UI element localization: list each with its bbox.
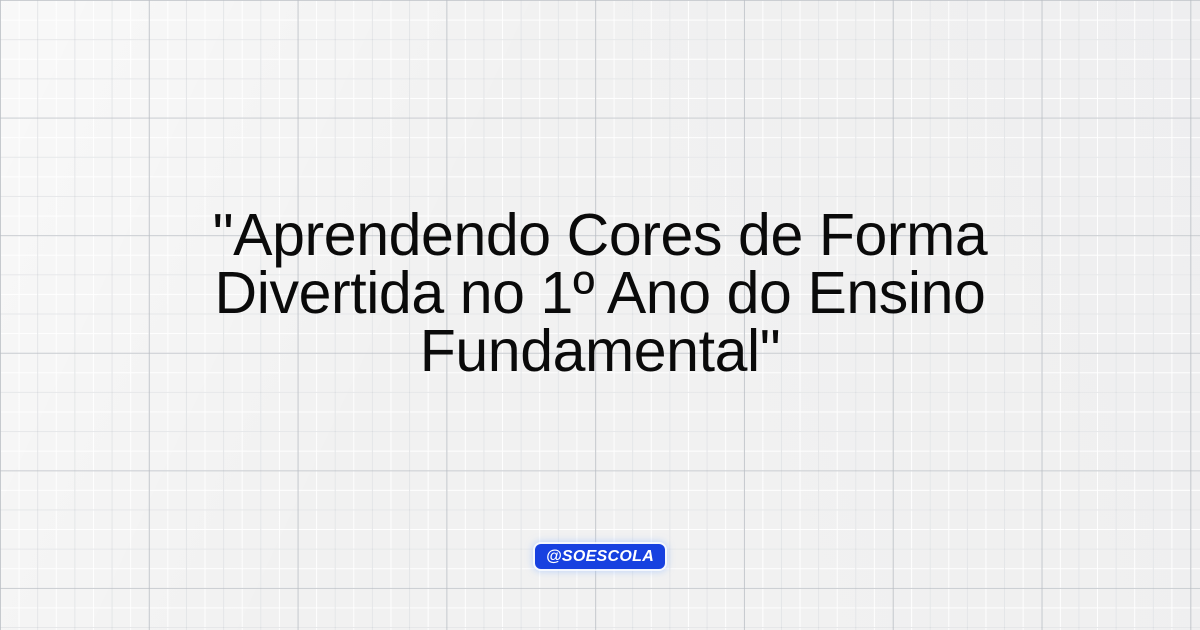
title-line-1: "Aprendendo Cores de Forma	[60, 206, 1140, 264]
title-line-3: Fundamental"	[60, 322, 1140, 380]
title-card: "Aprendendo Cores de Forma Divertida no …	[0, 0, 1200, 630]
title-line-2: Divertida no 1º Ano do Ensino	[60, 264, 1140, 322]
soescola-handle-badge: @SOESCOLA	[535, 544, 665, 569]
page-title: "Aprendendo Cores de Forma Divertida no …	[0, 206, 1200, 380]
watermark-container: @SOESCOLA	[0, 544, 1200, 569]
